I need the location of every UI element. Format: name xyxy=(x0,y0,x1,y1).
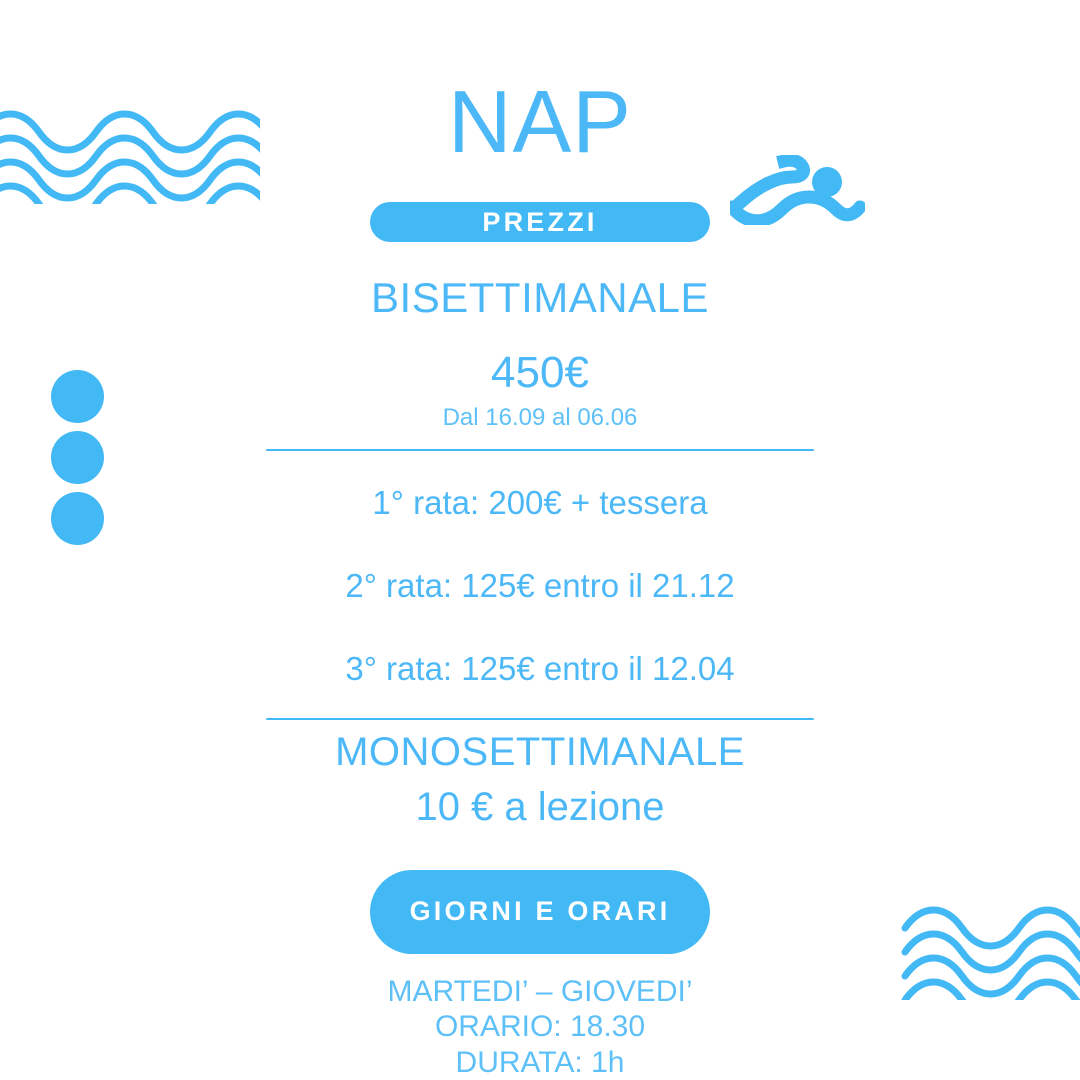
schedule-duration: DURATA: 1h xyxy=(387,1045,692,1080)
divider-bottom xyxy=(266,718,814,720)
prezzi-button[interactable]: PREZZI xyxy=(370,202,710,242)
schedule-block: MARTEDI’ – GIOVEDI’ ORARIO: 18.30 DURATA… xyxy=(387,974,692,1080)
page-title: NAP xyxy=(448,78,632,166)
plan-period-bisettimanale: Dal 16.09 al 06.06 xyxy=(443,404,638,432)
main-content: NAP PREZZI BISETTIMANALE 450€ Dal 16.09 … xyxy=(0,0,1080,1080)
plan-name-bisettimanale: BISETTIMANALE xyxy=(371,274,709,322)
schedule-time: ORARIO: 18.30 xyxy=(387,1009,692,1044)
giorni-e-orari-button[interactable]: GIORNI E ORARI xyxy=(370,870,710,954)
installment-2: 2° rata: 125€ entro il 21.12 xyxy=(345,567,734,605)
plan-price-bisettimanale: 450€ xyxy=(491,348,589,398)
schedule-days: MARTEDI’ – GIOVEDI’ xyxy=(387,974,692,1009)
divider-top xyxy=(266,449,814,451)
installment-3: 3° rata: 125€ entro il 12.04 xyxy=(345,650,734,688)
schedule-button-wrap: GIORNI E ORARI xyxy=(370,870,710,954)
installment-1: 1° rata: 200€ + tessera xyxy=(372,484,707,522)
poster: NAP PREZZI BISETTIMANALE 450€ Dal 16.09 … xyxy=(0,0,1080,1080)
plan-price-monosettimanale: 10 € a lezione xyxy=(415,785,664,830)
plan-name-monosettimanale: MONOSETTIMANALE xyxy=(335,730,745,775)
